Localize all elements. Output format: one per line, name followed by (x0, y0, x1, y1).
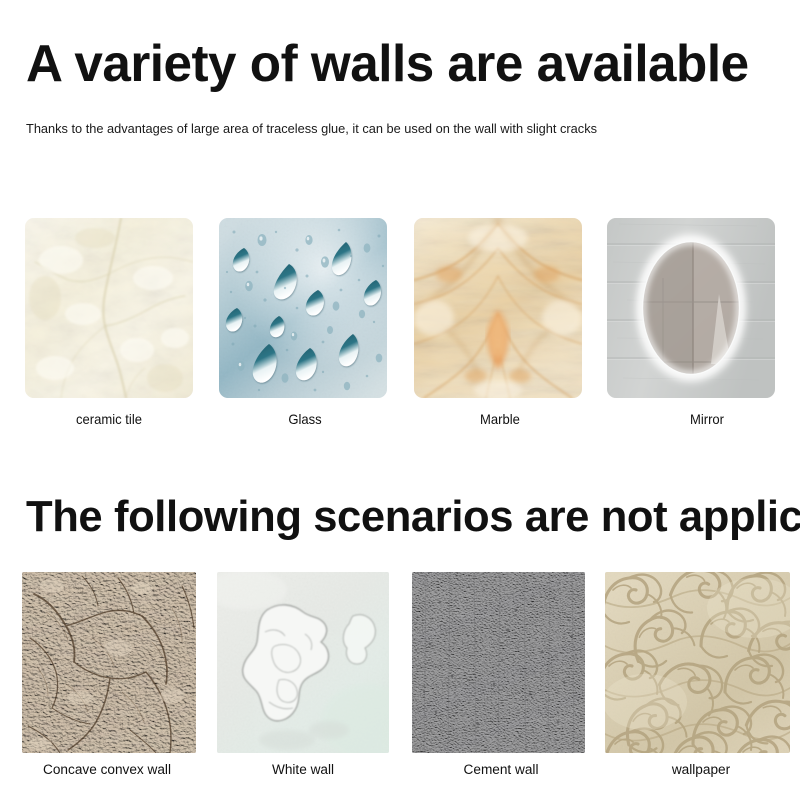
ceramic-tile-texture (25, 218, 193, 398)
tile-label-concave-convex-wall: Concave convex wall (6, 761, 208, 779)
tile-label-ceramic-tile: ceramic tile (13, 411, 205, 429)
tile-glass[interactable] (219, 218, 387, 398)
tile-wallpaper[interactable] (605, 572, 790, 753)
page-subtitle: Thanks to the advantages of large area o… (26, 120, 763, 138)
peeling-paint-texture (217, 572, 389, 753)
tile-label-glass: Glass (209, 411, 401, 429)
glass-droplets-texture (219, 218, 387, 398)
concrete-texture (412, 572, 585, 753)
tile-mirror[interactable] (607, 218, 775, 398)
page-title-available: A variety of walls are available (26, 36, 767, 92)
rough-stucco-texture (22, 572, 196, 753)
tile-white-wall[interactable] (217, 572, 389, 753)
tile-concave-convex-wall[interactable] (22, 572, 196, 753)
tile-label-wallpaper: wallpaper (600, 761, 800, 779)
marble-texture (414, 218, 582, 398)
tile-label-mirror: Mirror (611, 411, 800, 429)
led-mirror-texture (607, 218, 775, 398)
tile-cement-wall[interactable] (412, 572, 585, 753)
tile-ceramic-tile[interactable] (25, 218, 193, 398)
damask-wallpaper-texture (605, 572, 790, 753)
tile-label-cement-wall: Cement wall (400, 761, 602, 779)
page-title-not-applicable: The following scenarios are not applicab… (26, 492, 770, 542)
tile-marble[interactable] (414, 218, 582, 398)
tile-label-marble: Marble (404, 411, 596, 429)
tile-label-white-wall: White wall (202, 761, 404, 779)
